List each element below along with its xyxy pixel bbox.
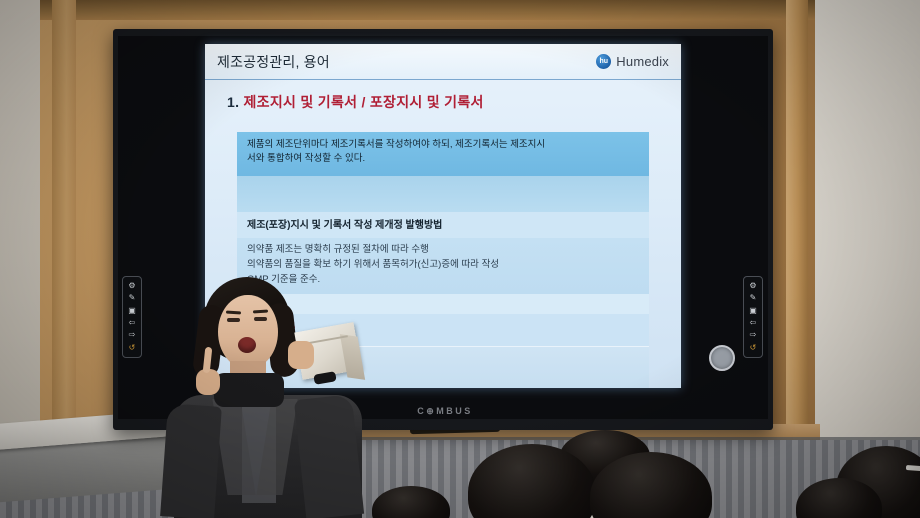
slide-block-details-line1: 의약품 제조는 명확히 규정된 절차에 따라 수행 (247, 243, 639, 257)
slide-block-details-line2: 의약품의 품질을 확보 하기 위해서 품목허가(신고)증에 따라 작성 (247, 258, 639, 272)
display-control-panel-left[interactable]: ⚙ ✎ ▣ ⇦ ⇨ ↺ (122, 276, 142, 358)
humedix-logo-icon: hu (596, 54, 611, 69)
slide-heading-number: 1. (227, 94, 239, 110)
humedix-logo-text: Humedix (616, 54, 669, 69)
refresh-icon[interactable]: ↺ (129, 344, 136, 352)
presenter-fist (196, 369, 220, 395)
power-icon[interactable]: ⚙ (128, 282, 135, 290)
power-icon[interactable]: ⚙ (749, 282, 756, 290)
presenter-eye-right (254, 317, 267, 321)
refresh-icon[interactable]: ↺ (750, 344, 757, 352)
arrow-left-icon[interactable]: ⇦ (750, 319, 757, 327)
slide-block-subtitle-text: 제조(포장)지시 및 기록서 작성 제개정 발행방법 (247, 216, 639, 231)
humedix-logo: hu Humedix (596, 54, 669, 69)
presenter-face (218, 295, 278, 369)
presenter-holding-hand (288, 341, 314, 369)
held-product-box-side (340, 334, 365, 380)
slide-block-primary: 제품의 제조단위마다 제조기록서를 작성하여야 하되, 제조기록서는 제조지시 … (237, 132, 649, 176)
arrow-left-icon[interactable]: ⇦ (129, 319, 136, 327)
display-control-panel-right[interactable]: ⚙ ✎ ▣ ⇦ ⇨ ↺ (743, 276, 763, 358)
wood-ceiling-shadow (40, 0, 815, 20)
presenter-eye-left (227, 318, 240, 322)
presenter-pointing-hand (196, 349, 218, 389)
slide-block-primary-line1: 제품의 제조단위마다 제조기록서를 작성하여야 하되, 제조기록서는 제조지시 (247, 138, 639, 152)
presenter-wristwatch (313, 371, 336, 385)
display-brand-label: C⊕MBUS (400, 406, 490, 420)
slide-block-spacer-1 (237, 176, 649, 212)
slide-block-subtitle: 제조(포장)지시 및 기록서 작성 제개정 발행방법 (237, 212, 649, 238)
screen-icon[interactable]: ▣ (749, 307, 757, 315)
presenter-turtleneck (214, 373, 284, 407)
lecture-room-scene: C⊕MBUS ⚙ ✎ ▣ ⇦ ⇨ ↺ ⚙ ✎ ▣ ⇦ ⇨ ↺ 제조공정관리, 용… (0, 0, 920, 518)
arrow-right-icon[interactable]: ⇨ (750, 331, 757, 339)
pen-icon[interactable]: ✎ (750, 294, 757, 302)
screen-icon[interactable]: ▣ (128, 307, 136, 315)
slide-header: 제조공정관리, 용어 hu Humedix (205, 44, 681, 80)
arrow-right-icon[interactable]: ⇨ (129, 331, 136, 339)
presenter-arm-right (294, 394, 364, 518)
presenter-mouth (238, 337, 256, 353)
ir-sensor-icon (709, 345, 735, 371)
slide-block-primary-line2: 서와 통합하여 작성할 수 있다. (247, 152, 639, 166)
presenter (168, 277, 376, 518)
presenter-arm-left (160, 403, 222, 518)
slide-title: 제조공정관리, 용어 (217, 52, 330, 72)
wood-pillar-left (52, 0, 76, 430)
wood-pillar-right (786, 0, 808, 470)
slide-heading: 1. 제조지시 및 기록서 / 포장지시 및 기록서 (227, 92, 484, 112)
pen-icon[interactable]: ✎ (129, 294, 136, 302)
slide-heading-text: 제조지시 및 기록서 / 포장지시 및 기록서 (243, 94, 483, 110)
